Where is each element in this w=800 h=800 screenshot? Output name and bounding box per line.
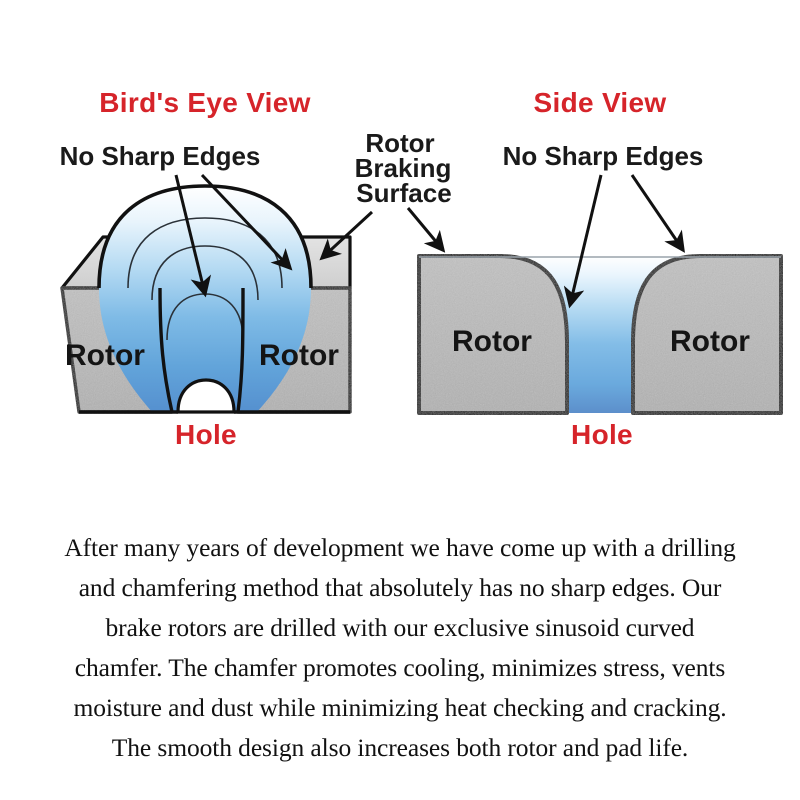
side-view-title: Side View <box>534 87 667 118</box>
diagram-canvas: Bird's Eye View No Sharp Edges Rotor Bra… <box>0 0 800 800</box>
birds-eye-view-title: Bird's Eye View <box>99 87 310 118</box>
right-hole-label: Hole <box>571 419 633 450</box>
description-line-3: brake rotors are drilled with our exclus… <box>6 608 794 648</box>
braking-surface-label-line3: Surface <box>356 178 451 208</box>
description-line-2: and chamfering method that absolutely ha… <box>6 568 794 608</box>
braking-surface-arrow-right-icon <box>408 208 443 250</box>
right-panel-side-view: Side View No Sharp Edges Rotor Rotor Hol… <box>408 87 781 450</box>
side-rotor-body-label-right: Rotor <box>670 325 750 358</box>
description-line-1: After many years of development we have … <box>6 528 794 568</box>
left-rotor-body-label-right: Rotor <box>259 339 339 372</box>
description-line-6: The smooth design also increases both ro… <box>6 728 794 768</box>
left-panel-birds-eye-view: Bird's Eye View No Sharp Edges Rotor Bra… <box>60 87 452 450</box>
left-hole-label: Hole <box>175 419 237 450</box>
side-rotor-body-label-left: Rotor <box>452 325 532 358</box>
description-line-5: moisture and dust while minimizing heat … <box>6 688 794 728</box>
right-arrow-to-right-chamfer-icon <box>632 175 683 250</box>
right-no-sharp-edges-label: No Sharp Edges <box>503 141 704 171</box>
description-paragraph: After many years of development we have … <box>0 528 800 768</box>
chamfer-bowl <box>99 186 311 412</box>
left-no-sharp-edges-label: No Sharp Edges <box>60 141 261 171</box>
left-rotor-body-label-left: Rotor <box>65 339 145 372</box>
description-line-4: chamfer. The chamfer promotes cooling, m… <box>6 648 794 688</box>
